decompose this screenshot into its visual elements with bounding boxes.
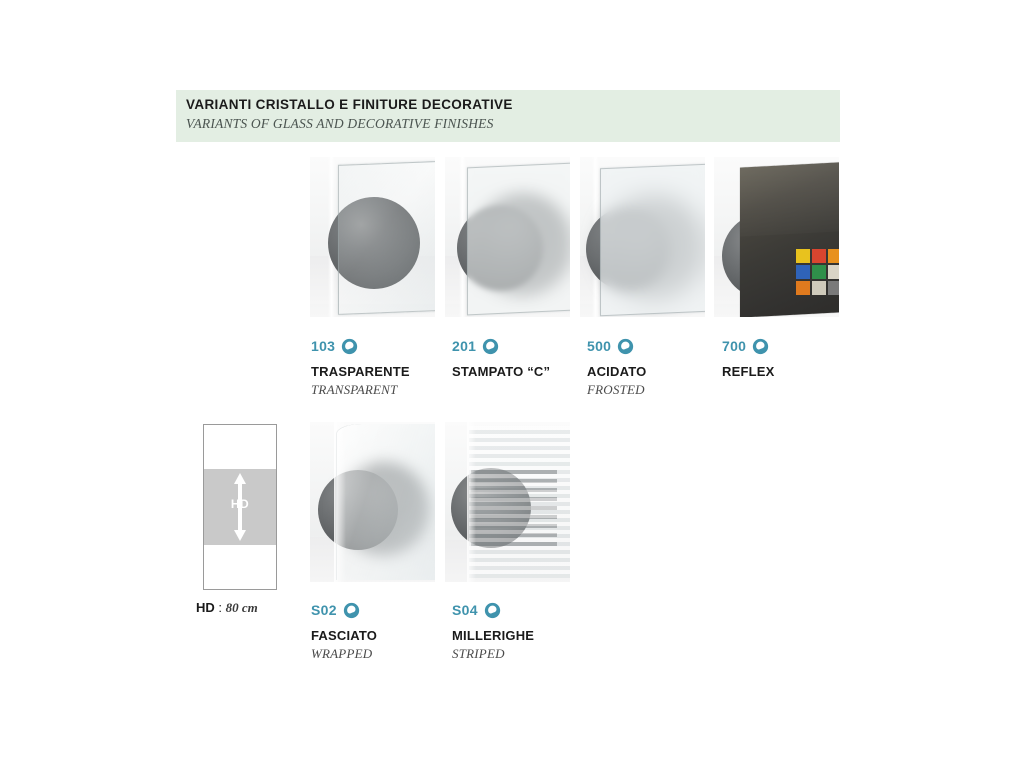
sample-code: 201	[452, 338, 476, 354]
hd-band-label: HD	[231, 497, 249, 511]
sample-name-english: STRIPED	[452, 646, 632, 662]
sample-code: 103	[311, 338, 335, 354]
sample-image-acidato	[580, 157, 705, 317]
sample-image-stampato-c	[445, 157, 570, 317]
hd-diagram: HD	[203, 424, 277, 590]
glass-drop-icon	[341, 338, 358, 355]
section-banner: VARIANTI CRISTALLO E FINITURE DECORATIVE…	[176, 90, 840, 142]
glass-drop-icon	[617, 338, 634, 355]
glass-drop-icon	[482, 338, 499, 355]
sample-label-reflex: 700 REFLEX	[722, 337, 902, 382]
sample-image-trasparente	[310, 157, 435, 317]
sample-image-millerighe	[445, 422, 570, 582]
banner-title-english: VARIANTS OF GLASS AND DECORATIVE FINISHE…	[186, 116, 494, 132]
sample-code: 500	[587, 338, 611, 354]
sample-name-italian: MILLERIGHE	[452, 628, 632, 643]
catalog-page: VARIANTI CRISTALLO E FINITURE DECORATIVE…	[0, 0, 1024, 768]
hd-caption-value: 80 cm	[226, 600, 258, 615]
banner-title-italian: VARIANTI CRISTALLO E FINITURE DECORATIVE	[186, 97, 513, 112]
sample-code: 700	[722, 338, 746, 354]
hd-caption-separator: :	[215, 600, 226, 615]
sample-name-italian: REFLEX	[722, 364, 902, 379]
sample-image-reflex	[714, 157, 839, 317]
color-checker-swatches	[796, 249, 839, 295]
sample-image-fasciato	[310, 422, 435, 582]
sample-label-millerighe: S04 MILLERIGHE STRIPED	[452, 601, 632, 662]
sample-name-english: FROSTED	[587, 382, 767, 398]
sample-code: S02	[311, 602, 337, 618]
glass-drop-icon	[752, 338, 769, 355]
sample-name-english: TRANSPARENT	[311, 382, 491, 398]
sample-code: S04	[452, 602, 478, 618]
hd-caption-label: HD	[196, 600, 215, 615]
glass-drop-icon	[484, 602, 501, 619]
glass-drop-icon	[343, 602, 360, 619]
